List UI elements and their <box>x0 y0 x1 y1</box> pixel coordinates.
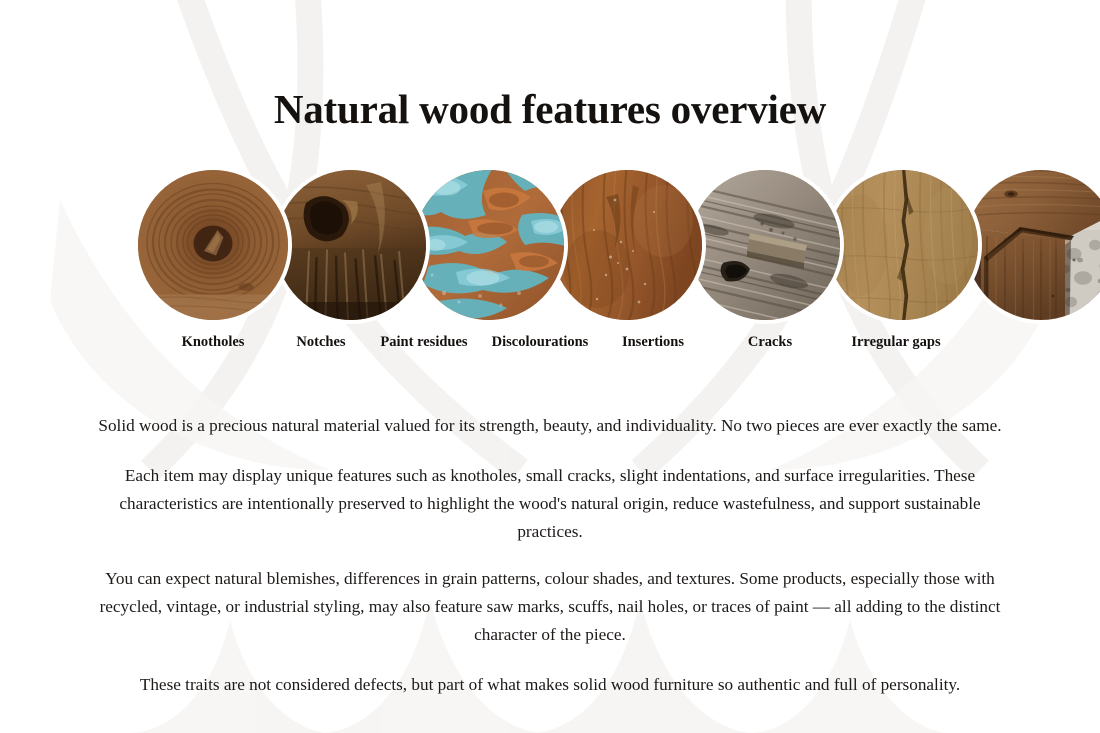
wood-knothole-swatch-icon <box>138 170 288 320</box>
feature-circle-discolourations <box>548 166 706 324</box>
wood-irregular-gap-swatch-icon <box>966 170 1100 320</box>
feature-label-row: Knotholes Notches Paint residues Discolo… <box>0 334 1100 358</box>
body-paragraph-3: You can expect natural blemishes, differ… <box>90 565 1010 649</box>
feature-circle-irregular-gaps <box>962 166 1100 324</box>
poster-page: Natural wood features overview <box>0 0 1100 733</box>
wood-paint-residue-swatch-icon <box>414 170 564 320</box>
body-paragraph-4: These traits are not considered defects,… <box>90 671 1010 699</box>
feature-circle-insertions <box>686 166 844 324</box>
feature-label-cracks: Cracks <box>700 334 840 351</box>
feature-circle-cracks <box>824 166 982 324</box>
feature-circle-notches <box>272 166 430 324</box>
wood-crack-swatch-icon <box>828 170 978 320</box>
page-title: Natural wood features overview <box>0 85 1100 133</box>
feature-circle-paint-residues <box>410 166 568 324</box>
body-paragraph-1: Solid wood is a precious natural materia… <box>90 412 1010 440</box>
feature-circle-strip <box>0 166 1100 328</box>
body-paragraph-2: Each item may display unique features su… <box>90 462 1010 546</box>
wood-insertion-swatch-icon <box>690 170 840 320</box>
feature-label-irregular-gaps: Irregular gaps <box>826 334 966 351</box>
wood-discolouration-swatch-icon <box>552 170 702 320</box>
wood-notch-swatch-icon <box>276 170 426 320</box>
body-copy: Solid wood is a precious natural materia… <box>90 412 1010 699</box>
feature-circle-knotholes <box>134 166 292 324</box>
